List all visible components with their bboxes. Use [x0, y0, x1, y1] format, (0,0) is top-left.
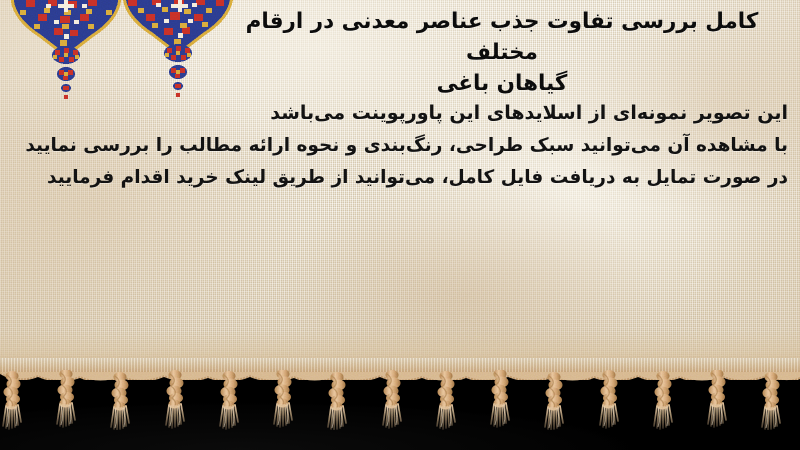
- body-line-3: در صورت تمایل به دریافت فایل کامل، می‌تو…: [8, 169, 790, 188]
- carpet-selvedge-band: [0, 358, 800, 380]
- slide-canvas: کامل بررسی تفاوت جذب عناصر معدنی در ارقا…: [0, 0, 800, 450]
- slide-body-text: این تصویر نمونه‌ای از اسلایدهای این پاور…: [8, 104, 790, 187]
- slide-title-line-1: کامل بررسی تفاوت جذب عناصر معدنی در ارقا…: [222, 6, 782, 68]
- body-line-2: با مشاهده آن می‌توانید سبک طراحی، رنگ‌بن…: [8, 137, 790, 156]
- slide-title: کامل بررسی تفاوت جذب عناصر معدنی در ارقا…: [222, 6, 782, 100]
- body-line-1: این تصویر نمونه‌ای از اسلایدهای این پاور…: [8, 104, 790, 123]
- carpet-fringe: [0, 358, 800, 450]
- slide-title-line-2: گیاهان باغی: [222, 68, 782, 99]
- fringe-black-field: [0, 368, 800, 450]
